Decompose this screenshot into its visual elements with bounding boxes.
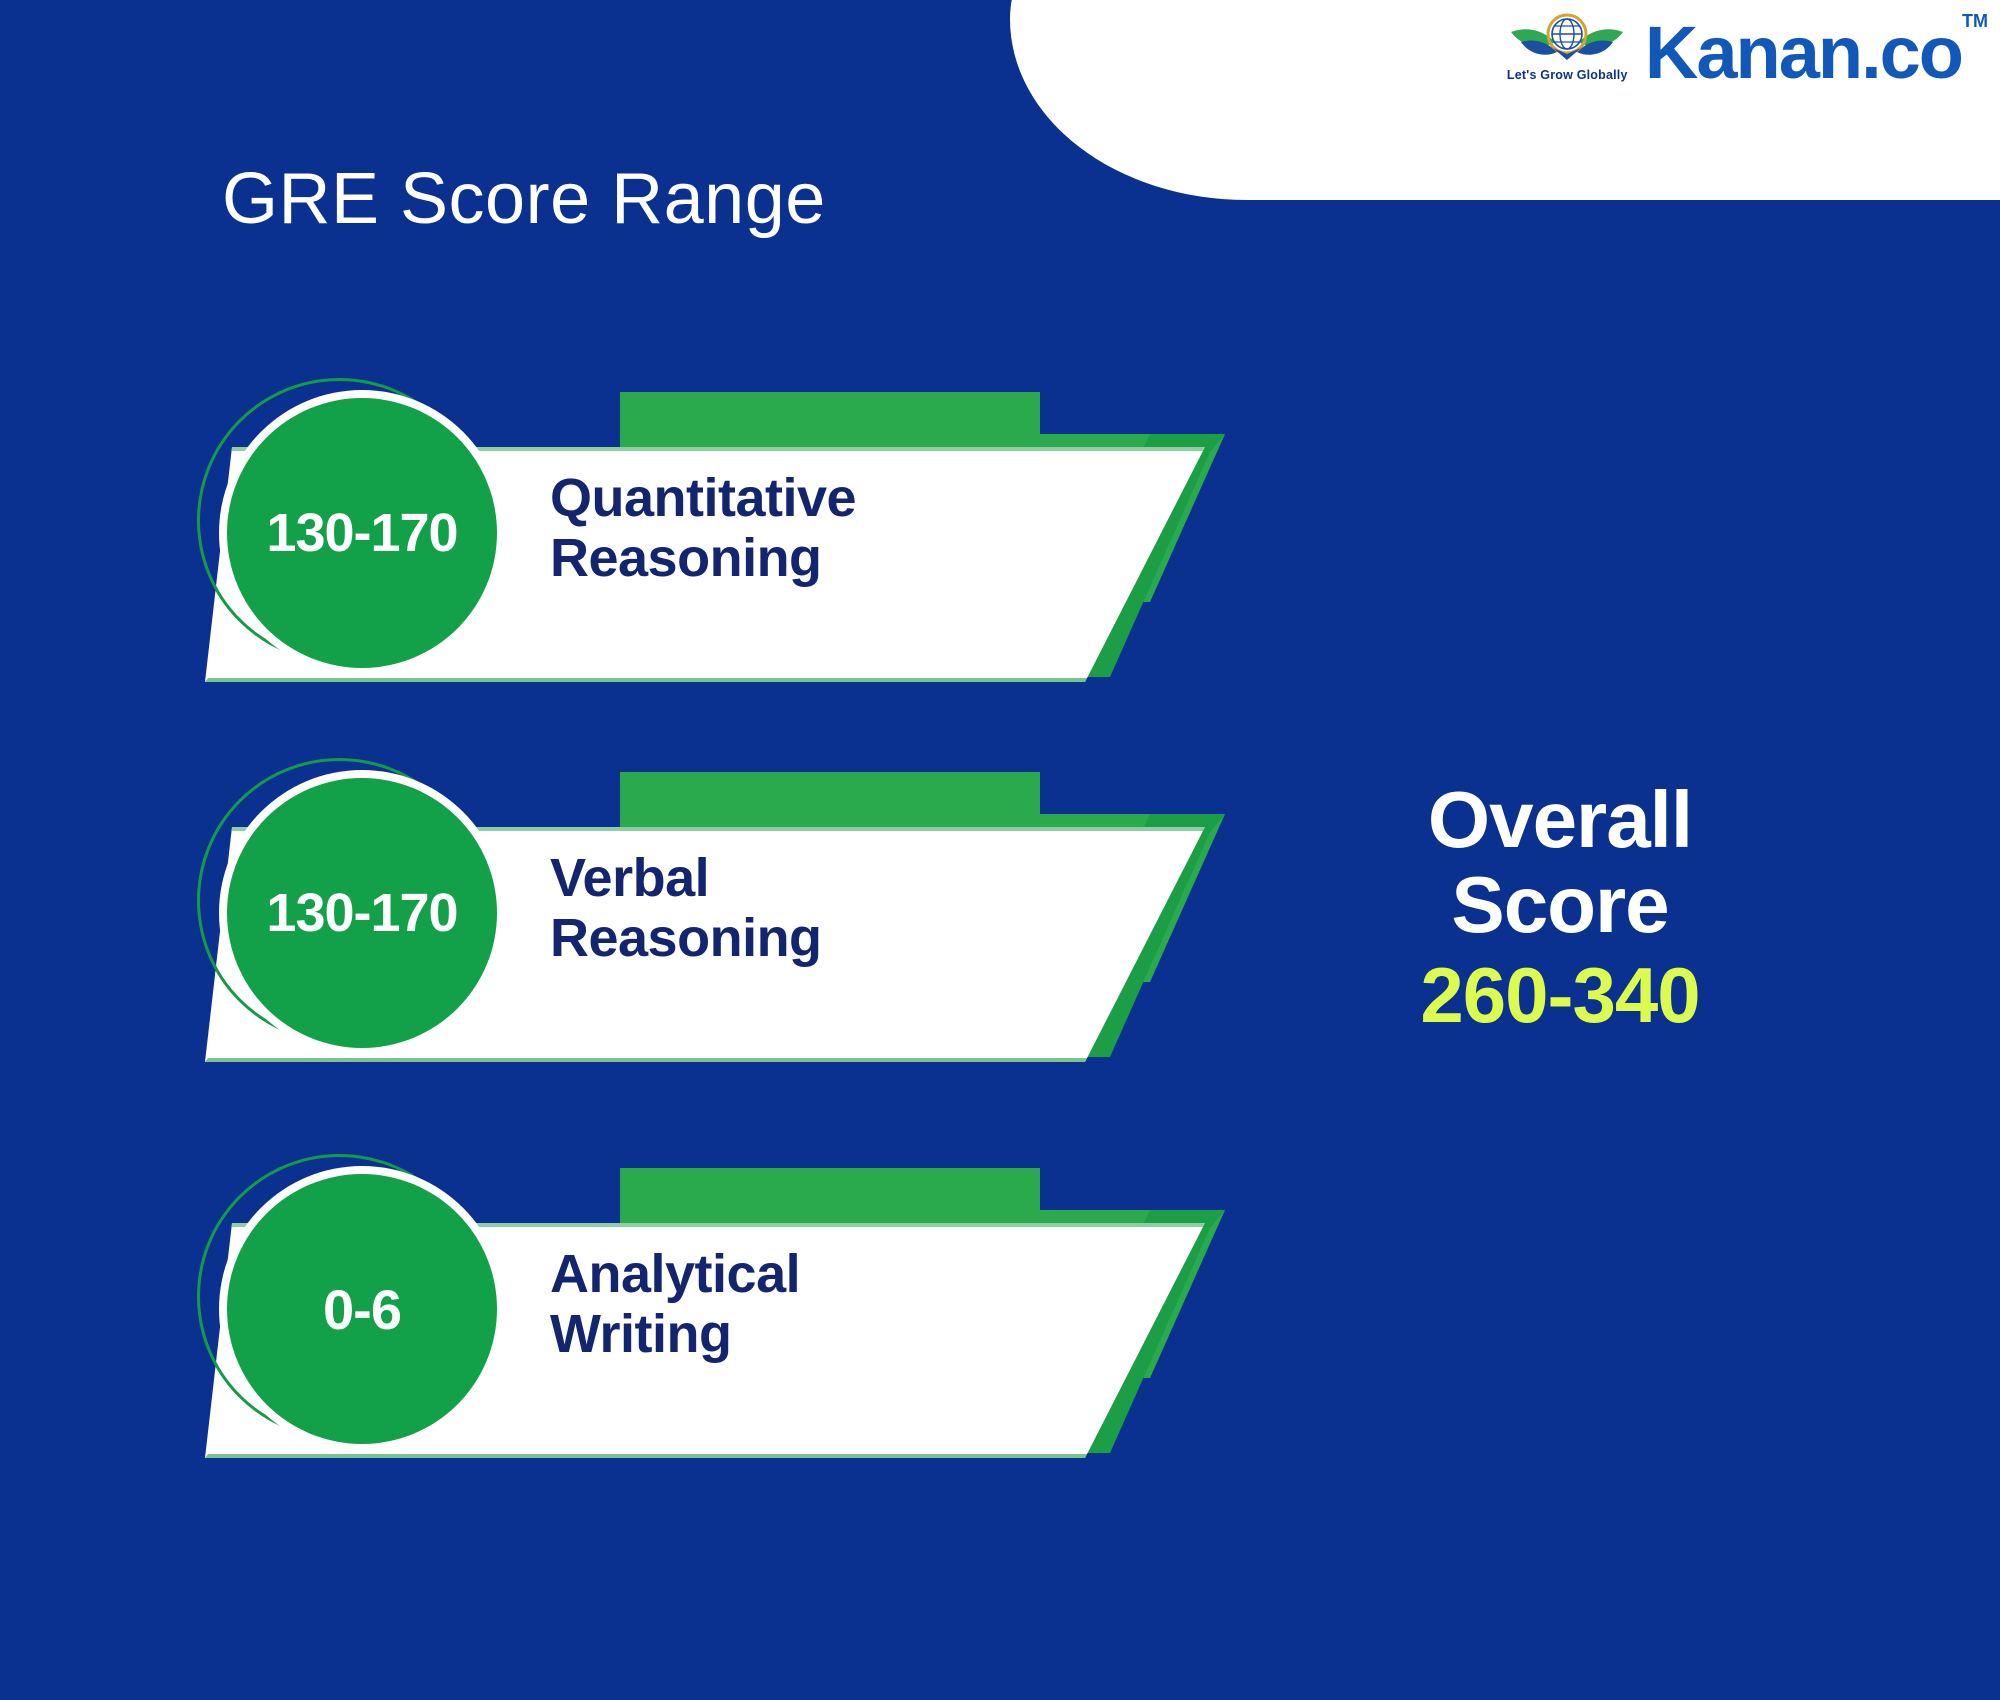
overall-score-title-line2: Score <box>1340 863 1780 948</box>
overall-score-title-line1: Overall <box>1340 778 1780 863</box>
section-name-line1: Verbal <box>550 848 709 908</box>
logo-wordmark: Kanan.co TM <box>1645 16 1962 90</box>
score-range-value: 0-6 <box>323 1277 401 1342</box>
section-name-line2: Writing <box>550 1304 1170 1364</box>
overall-score-block: Overall Score 260-340 <box>1340 778 1780 1039</box>
score-row-verbal: 130-170 Verbal Reasoning <box>0 772 1300 1082</box>
section-name-line2: Reasoning <box>550 528 1170 588</box>
logo-tagline: Let's Grow Globally <box>1507 68 1627 82</box>
section-name-line1: Quantitative <box>550 468 856 528</box>
score-row-analytical: 0-6 Analytical Writing <box>0 1168 1300 1478</box>
badge-disc: 130-170 <box>227 398 497 668</box>
score-range-value: 130-170 <box>266 882 457 944</box>
section-name-line1: Analytical <box>550 1244 800 1304</box>
logo-wordmark-text: Kanan.co <box>1645 11 1962 94</box>
trademark-symbol: TM <box>1962 12 1988 30</box>
section-name: Analytical Writing <box>550 1244 1170 1365</box>
page-title: GRE Score Range <box>222 158 826 240</box>
section-name: Quantitative Reasoning <box>550 468 1170 589</box>
section-name: Verbal Reasoning <box>550 848 1170 969</box>
score-range-value: 130-170 <box>266 502 457 564</box>
score-row-quantitative: 130-170 Quantitative Reasoning <box>0 392 1300 702</box>
overall-score-value: 260-340 <box>1340 952 1780 1039</box>
section-name-line2: Reasoning <box>550 908 1170 968</box>
badge-disc: 0-6 <box>227 1174 497 1444</box>
infographic-canvas: Let's Grow Globally Kanan.co TM GRE Scor… <box>0 0 2000 1700</box>
globe-wings-icon: Let's Grow Globally <box>1507 10 1627 96</box>
badge-disc: 130-170 <box>227 778 497 1048</box>
score-badge: 130-170 <box>205 390 490 675</box>
score-badge: 0-6 <box>205 1166 490 1451</box>
overall-score-title: Overall Score <box>1340 778 1780 948</box>
brand-logo: Let's Grow Globally Kanan.co TM <box>1507 10 1962 96</box>
score-badge: 130-170 <box>205 770 490 1055</box>
